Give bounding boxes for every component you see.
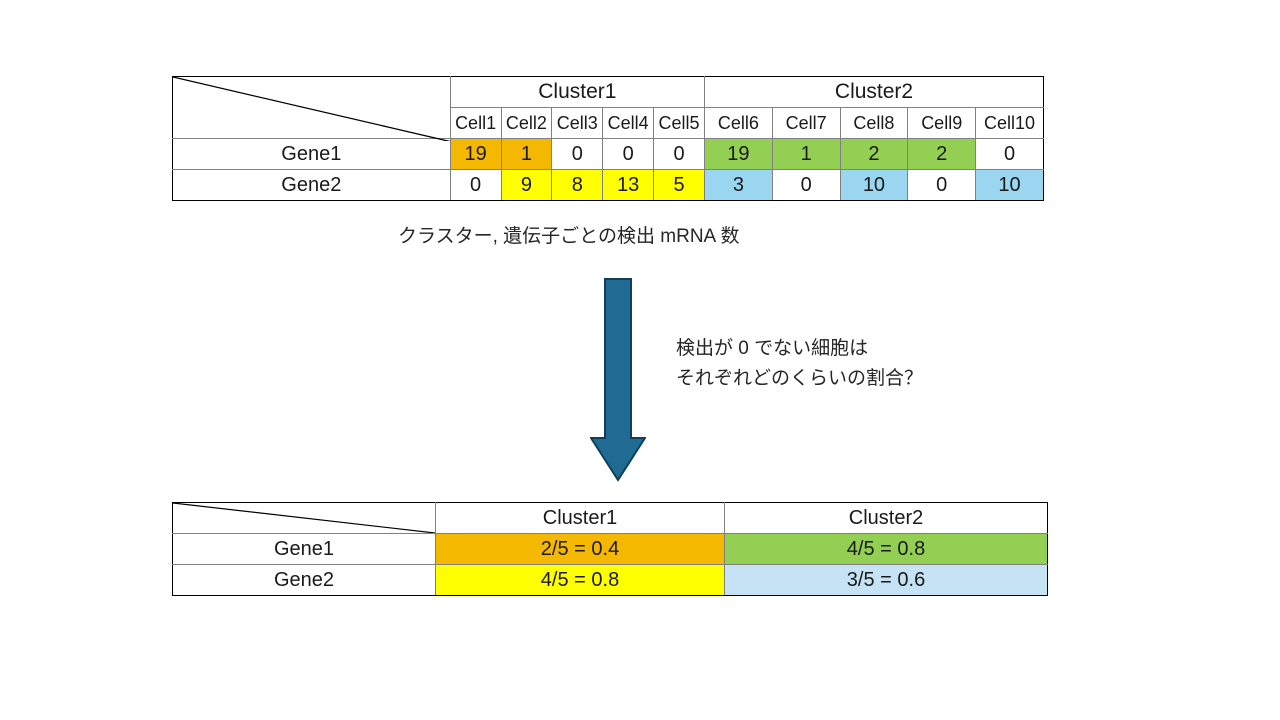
- row-label-gene2: Gene2: [173, 170, 451, 201]
- cell-gene2-cell1: 0: [450, 170, 501, 201]
- diagonal-divider-icon: [173, 503, 435, 533]
- cell-gene1-cell9: 2: [908, 139, 976, 170]
- table-row-cluster-header: Cluster1 Cluster2: [173, 77, 1044, 108]
- down-arrow-icon: [590, 278, 646, 482]
- cell-gene2-cell8: 10: [840, 170, 908, 201]
- cell-gene1-cell2: 1: [501, 139, 552, 170]
- diagonal-divider-icon: [173, 77, 450, 141]
- row-label-gene1: Gene1: [173, 139, 451, 170]
- cell-gene2-cell7: 0: [772, 170, 840, 201]
- cell-gene1-cell7: 1: [772, 139, 840, 170]
- question-line-1: 検出が 0 でない細胞は: [676, 334, 923, 364]
- table-row: Gene1 2/5 = 0.4 4/5 = 0.8: [173, 534, 1048, 565]
- cell-header-cell2: Cell2: [501, 108, 552, 139]
- question-annotation: 検出が 0 でない細胞は それぞれどのくらいの割合？: [676, 334, 923, 394]
- cluster1-header: Cluster1: [436, 503, 725, 534]
- cell-header-cell4: Cell4: [603, 108, 654, 139]
- cell-gene2-cell10: 10: [976, 170, 1044, 201]
- cell-header-cell10: Cell10: [976, 108, 1044, 139]
- cell-header-cell5: Cell5: [654, 108, 705, 139]
- table-caption: クラスター, 遺伝子ごとの検出 mRNA 数: [398, 222, 739, 252]
- cell-gene2-cluster2: 3/5 = 0.6: [725, 565, 1048, 596]
- cell-gene1-cell4: 0: [603, 139, 654, 170]
- question-line-2: それぞれどのくらいの割合？: [676, 364, 923, 394]
- cell-gene2-cell3: 8: [552, 170, 603, 201]
- table-row: Gene2 4/5 = 0.8 3/5 = 0.6: [173, 565, 1048, 596]
- cell-gene2-cell5: 5: [654, 170, 705, 201]
- slide-canvas: Cluster1 Cluster2 Cell1 Cell2 Cell3 Cell…: [0, 0, 1280, 720]
- cluster2-header: Cluster2: [705, 77, 1044, 108]
- cell-gene2-cluster1: 4/5 = 0.8: [436, 565, 725, 596]
- cell-gene1-cell5: 0: [654, 139, 705, 170]
- cell-header-cell7: Cell7: [772, 108, 840, 139]
- row-label-gene1: Gene1: [173, 534, 436, 565]
- cell-gene1-cell10: 0: [976, 139, 1044, 170]
- corner-header-cell: [173, 77, 451, 139]
- row-label-gene2: Gene2: [173, 565, 436, 596]
- cell-header-cell1: Cell1: [450, 108, 501, 139]
- cell-gene1-cell3: 0: [552, 139, 603, 170]
- cell-gene1-cell8: 2: [840, 139, 908, 170]
- cell-gene1-cluster1: 2/5 = 0.4: [436, 534, 725, 565]
- cell-header-cell3: Cell3: [552, 108, 603, 139]
- cluster1-header: Cluster1: [450, 77, 704, 108]
- cluster2-header: Cluster2: [725, 503, 1048, 534]
- cell-header-cell8: Cell8: [840, 108, 908, 139]
- table-row: Gene2 0 9 8 13 5 3 0 10 0 10: [173, 170, 1044, 201]
- cell-gene1-cell1: 19: [450, 139, 501, 170]
- cell-header-cell9: Cell9: [908, 108, 976, 139]
- cell-gene2-cell4: 13: [603, 170, 654, 201]
- corner-header-cell: [173, 503, 436, 534]
- cell-header-cell6: Cell6: [705, 108, 773, 139]
- cell-gene1-cell6: 19: [705, 139, 773, 170]
- detection-ratio-table: Cluster1 Cluster2 Gene1 2/5 = 0.4 4/5 = …: [172, 502, 1048, 596]
- table-row-cluster-header: Cluster1 Cluster2: [173, 503, 1048, 534]
- cell-gene1-cluster2: 4/5 = 0.8: [725, 534, 1048, 565]
- table-row: Gene1 19 1 0 0 0 19 1 2 2 0: [173, 139, 1044, 170]
- cell-gene2-cell2: 9: [501, 170, 552, 201]
- mrna-count-table: Cluster1 Cluster2 Cell1 Cell2 Cell3 Cell…: [172, 76, 1044, 201]
- cell-gene2-cell9: 0: [908, 170, 976, 201]
- cell-gene2-cell6: 3: [705, 170, 773, 201]
